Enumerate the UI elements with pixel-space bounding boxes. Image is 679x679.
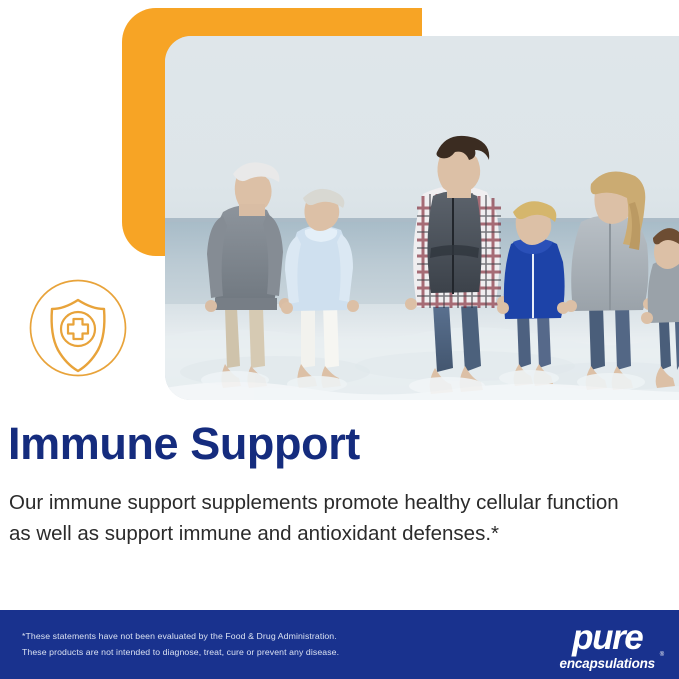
brand-name: pure [560,619,655,654]
brand-logo: pure encapsulations ® [560,619,655,670]
body-copy: Our immune support supplements promote h… [9,487,629,549]
hero-photo [165,36,679,400]
brand-subtitle: encapsulations ® [560,656,655,670]
brand-subtitle-text: encapsulations [560,655,655,670]
shield-medical-cross-icon [28,278,128,378]
footer-bar: *These statements have not been evaluate… [0,610,679,679]
registered-trademark-icon: ® [660,651,664,657]
page-title: Immune Support [8,418,360,470]
immune-support-banner: Immune Support Our immune support supple… [0,0,679,679]
